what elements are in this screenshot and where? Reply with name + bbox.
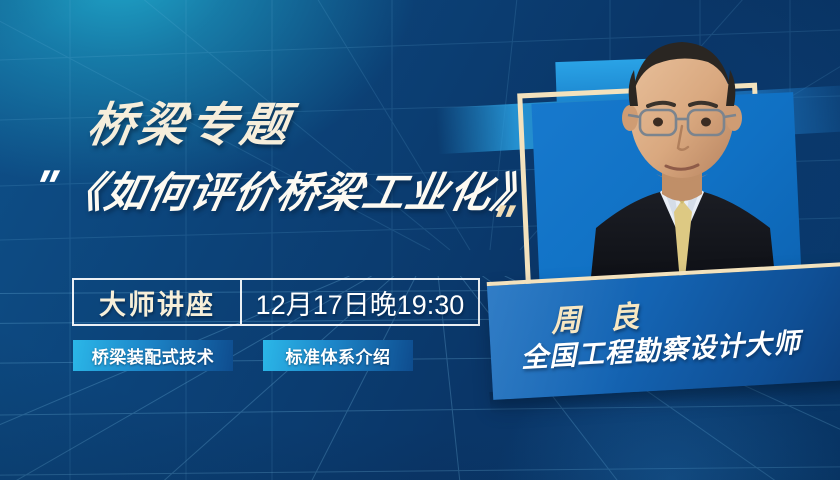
topic-tag-1: 桥梁装配式技术 bbox=[73, 340, 233, 371]
promo-banner: " 桥梁专题 《如何评价桥梁工业化》 " 大师讲座 12月17日晚19:30 桥… bbox=[0, 0, 840, 480]
speaker-composition: 周 良 全国工程勘察设计大师 bbox=[470, 0, 840, 480]
speaker-name-plaque: 周 良 全国工程勘察设计大师 bbox=[487, 262, 840, 400]
topic-tag-list: 桥梁装配式技术 标准体系介绍 bbox=[73, 340, 413, 371]
copy-block: " 桥梁专题 《如何评价桥梁工业化》 " 大师讲座 12月17日晚19:30 桥… bbox=[0, 0, 520, 480]
page-title: 桥梁专题 bbox=[84, 101, 295, 148]
page-subtitle: 《如何评价桥梁工业化》 bbox=[58, 172, 539, 214]
topic-tag-2: 标准体系介绍 bbox=[263, 340, 413, 371]
lecture-label-cell: 大师讲座 bbox=[74, 280, 242, 324]
quote-open-mark: " bbox=[28, 163, 58, 209]
lecture-datetime: 12月17日晚19:30 bbox=[256, 283, 465, 322]
speaker-portrait bbox=[578, 14, 786, 306]
lecture-datetime-cell: 12月17日晚19:30 bbox=[242, 280, 478, 324]
lecture-label: 大师讲座 bbox=[99, 283, 215, 322]
lecture-headline-box: 大师讲座 12月17日晚19:30 bbox=[72, 278, 480, 326]
